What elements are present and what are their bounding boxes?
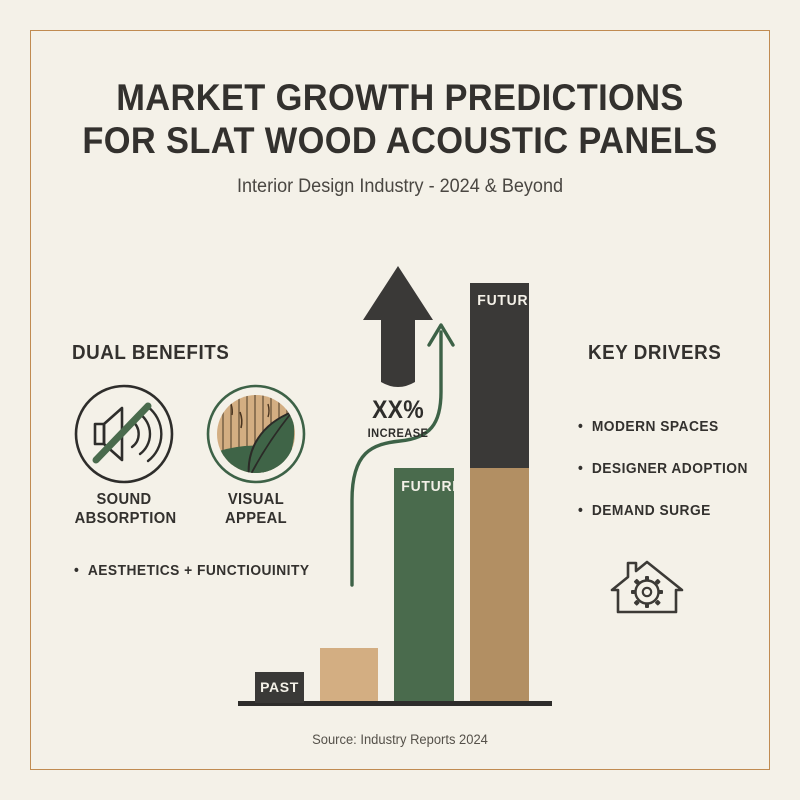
key-driver-item-0: MODERN SPACES <box>578 419 719 435</box>
benefit-sound-caption-line-1: SOUND <box>75 490 174 509</box>
benefit-sound-caption: SOUND ABSORPTION <box>75 490 174 528</box>
bar-label-future-green: FUTURE <box>401 478 462 495</box>
benefit-visual-appeal: VISUAL APPEAL <box>204 382 308 528</box>
benefit-sound-absorption: SOUND ABSORPTION <box>72 382 176 528</box>
benefit-visual-caption-line-2: APPEAL <box>207 509 306 528</box>
left-bullet-aesthetics: AESTHETICS + FUNCTIOUINITY <box>74 563 310 579</box>
infographic-poster: MARKET GROWTH PREDICTIONS FOR SLAT WOOD … <box>0 0 800 800</box>
bar-label-past: PAST <box>255 672 304 703</box>
bar-label-future-dark: FUTURE <box>477 292 538 309</box>
key-driver-item-2: DEMAND SURGE <box>578 503 711 519</box>
bar-near-term <box>320 648 378 701</box>
key-driver-item-1: DESIGNER ADOPTION <box>578 461 748 477</box>
source-caption: Source: Industry Reports 2024 <box>16 732 784 747</box>
key-drivers-heading: KEY DRIVERS <box>588 342 721 365</box>
bar-future-green <box>394 468 454 701</box>
benefit-sound-caption-line-2: ABSORPTION <box>75 509 174 528</box>
increase-word: INCREASE <box>356 426 441 440</box>
dual-benefits-heading: DUAL BENEFITS <box>72 342 229 365</box>
increase-value: XX% <box>356 396 441 425</box>
increase-annotation: XX% INCREASE <box>352 396 444 440</box>
benefit-visual-caption-line-1: VISUAL <box>207 490 306 509</box>
bar-future-tall-growth <box>470 283 529 468</box>
smart-home-gear-icon <box>612 562 682 612</box>
bar-future-tall-base <box>470 467 529 701</box>
benefit-visual-caption: VISUAL APPEAL <box>207 490 306 528</box>
up-arrow-icon <box>363 266 433 387</box>
